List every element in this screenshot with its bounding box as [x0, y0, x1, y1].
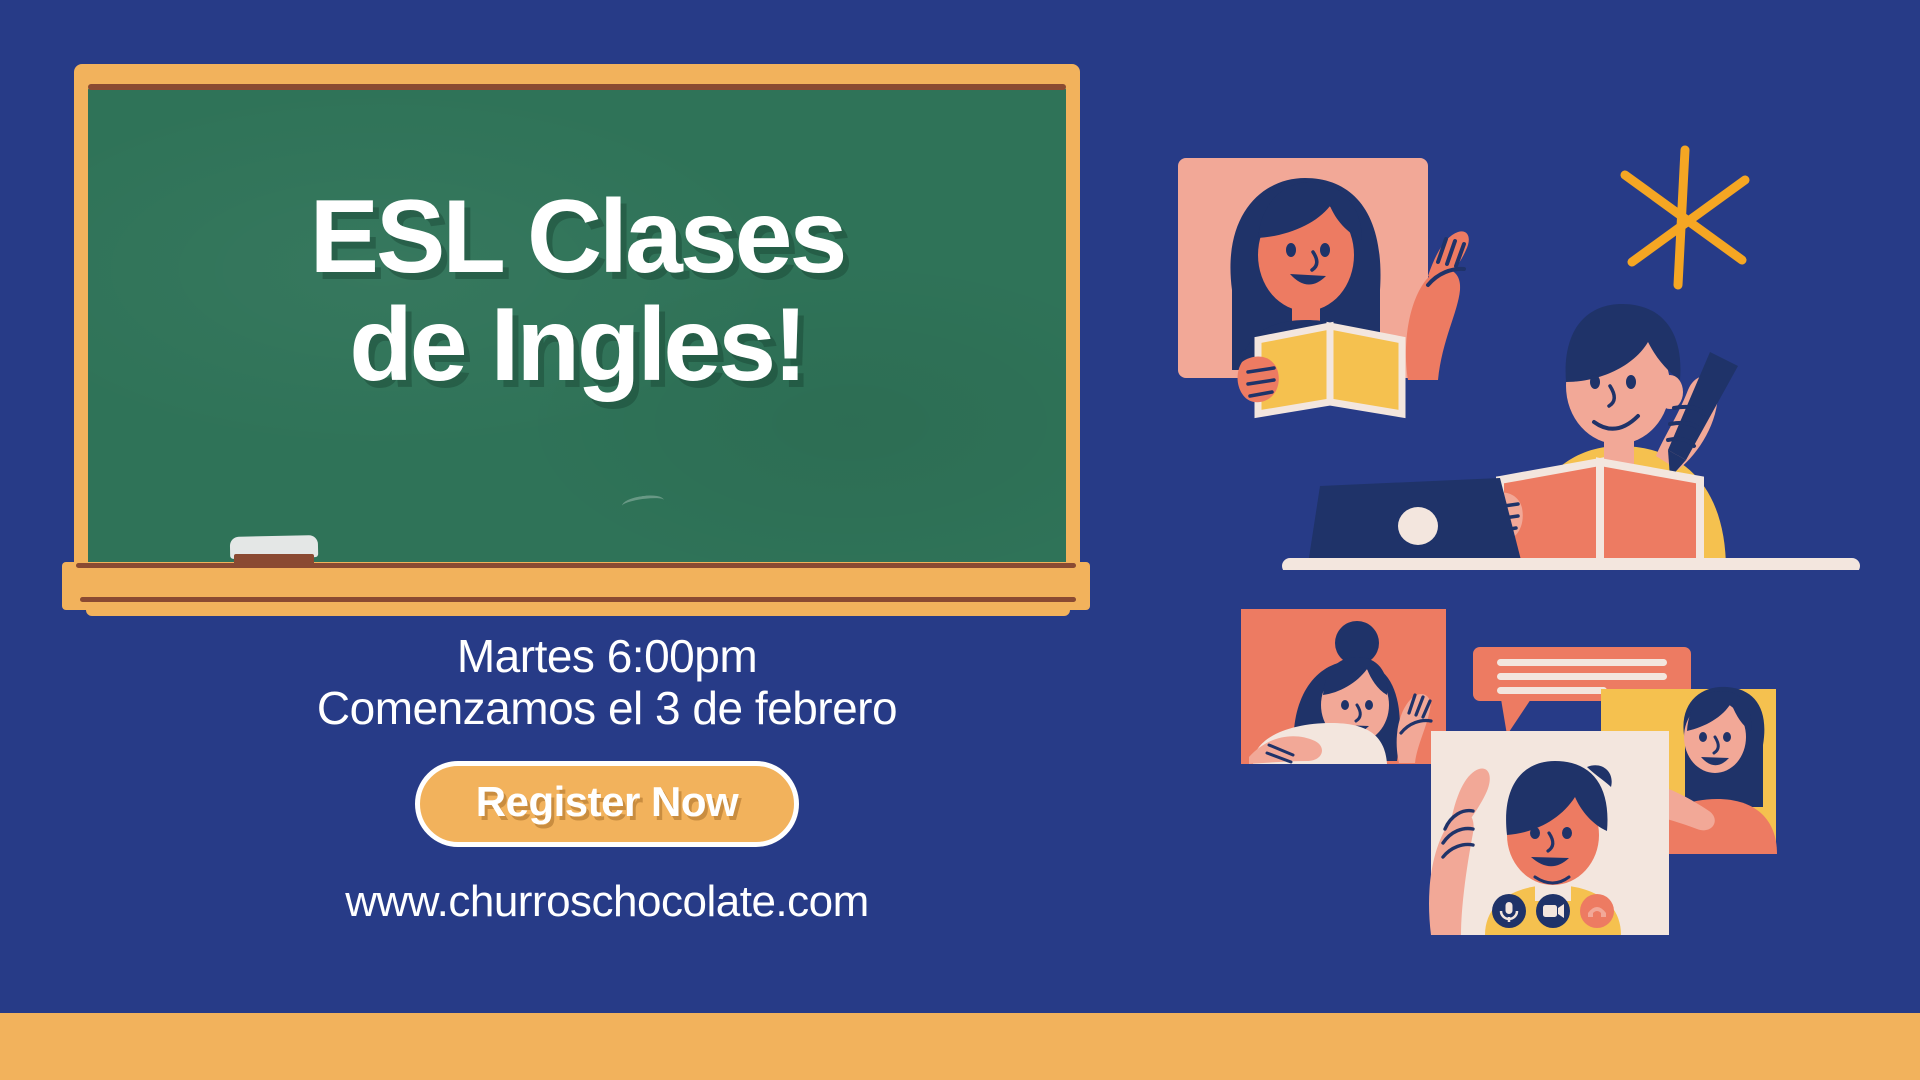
title-line-1: ESL Clases	[310, 183, 845, 291]
start-date-text: Comenzamos el 3 de febrero	[317, 682, 897, 734]
video-call-panel	[1429, 731, 1669, 935]
poster-canvas: ESL Clases de Ingles! Martes 6:00pm Come…	[0, 0, 1920, 1080]
schedule-text: Martes 6:00pm	[457, 630, 757, 682]
video-controls	[1492, 894, 1614, 928]
bottom-accent-band	[0, 1013, 1920, 1080]
register-now-button[interactable]: Register Now	[415, 761, 799, 847]
chalkboard: ESL Clases de Ingles!	[62, 64, 1090, 609]
bubble-line-2	[1497, 673, 1667, 680]
illustration-bottom	[1235, 585, 1905, 935]
ledge-base	[86, 602, 1070, 616]
eraser-block	[234, 554, 314, 568]
sparkle-star	[1625, 150, 1745, 285]
card-woman-waving	[1241, 609, 1446, 764]
title-line-2: de Ingles!	[349, 291, 804, 399]
illustration-top	[1170, 140, 1860, 570]
bubble-line-3	[1497, 687, 1607, 694]
website-url[interactable]: www.churroschocolate.com	[345, 877, 869, 927]
info-block: Martes 6:00pm Comenzamos el 3 de febrero…	[62, 630, 1152, 927]
eraser-icon	[230, 536, 318, 568]
hand-on-yellow-book	[1238, 357, 1279, 403]
ledge-line-top	[76, 563, 1076, 568]
coral-book	[1500, 462, 1700, 564]
yellow-book	[1258, 326, 1402, 414]
boy-with-pencil	[1480, 304, 1738, 570]
chalkboard-title: ESL Clases de Ingles!	[88, 88, 1066, 566]
bubble-line-1	[1497, 659, 1667, 666]
